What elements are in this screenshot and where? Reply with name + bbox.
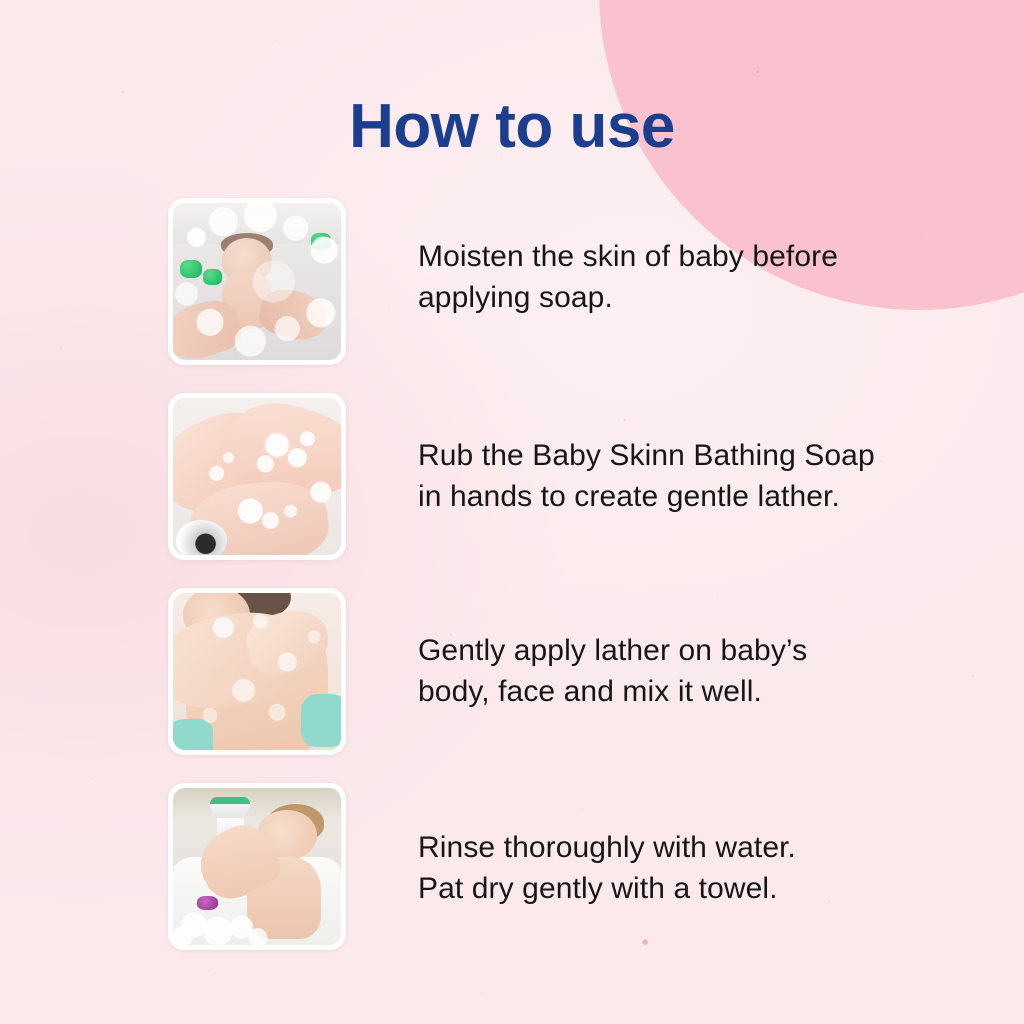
step-4-line-1: Rinse thoroughly with water. <box>418 827 984 868</box>
step-4-thumbnail <box>168 783 346 950</box>
step-2-text: Rub the Baby Skinn Bathing Soap in hands… <box>346 393 984 518</box>
step-1-text: Moisten the skin of baby before applying… <box>346 198 984 319</box>
step-2-thumbnail <box>168 393 346 560</box>
step-3-line-1: Gently apply lather on baby’s <box>418 630 984 671</box>
step-4-text: Rinse thoroughly with water. Pat dry gen… <box>346 783 984 910</box>
bubble-foam-overlay <box>173 892 291 945</box>
applying-lather-to-baby-photo <box>173 593 341 750</box>
step-item-4: Rinse thoroughly with water. Pat dry gen… <box>0 783 1024 978</box>
bubble-foam-overlay <box>173 203 341 360</box>
soapy-hands-lather-photo <box>173 398 341 555</box>
step-1-line-1: Moisten the skin of baby before <box>418 236 984 277</box>
step-1-line-2: applying soap. <box>418 277 984 318</box>
baby-rinsing-under-shower-photo <box>173 788 341 945</box>
how-to-use-infographic: How to use <box>0 0 1024 1024</box>
step-1-thumbnail <box>168 198 346 365</box>
step-3-text: Gently apply lather on baby’s body, face… <box>346 588 984 713</box>
step-2-line-2: in hands to create gentle lather. <box>418 476 984 517</box>
step-2-line-1: Rub the Baby Skinn Bathing Soap <box>418 435 984 476</box>
steps-list: Moisten the skin of baby before applying… <box>0 198 1024 978</box>
faucet-knob-shape <box>176 520 226 555</box>
step-3-thumbnail <box>168 588 346 755</box>
step-item-2: Rub the Baby Skinn Bathing Soap in hands… <box>0 393 1024 588</box>
page-title: How to use <box>0 94 1024 159</box>
step-4-line-2: Pat dry gently with a towel. <box>418 868 984 909</box>
step-item-3: Gently apply lather on baby’s body, face… <box>0 588 1024 783</box>
lather-foam-overlay <box>173 593 341 750</box>
baby-in-bubble-bath-photo <box>173 203 341 360</box>
step-3-line-2: body, face and mix it well. <box>418 671 984 712</box>
step-item-1: Moisten the skin of baby before applying… <box>0 198 1024 393</box>
